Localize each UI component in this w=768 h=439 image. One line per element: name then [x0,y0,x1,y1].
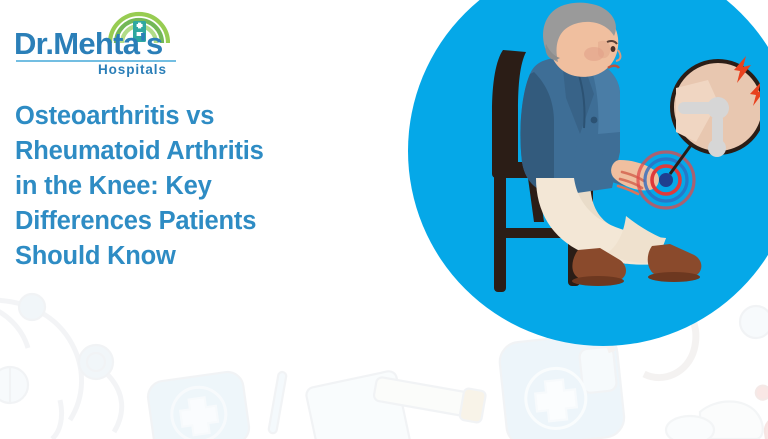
logo-wordmark-text: Dr.Mehta's [14,26,163,61]
logo-subtitle: Hospitals [98,62,167,77]
page-title-line-5: Should Know [15,239,385,274]
logo-wordmark: Dr.Mehta's [14,26,163,62]
page-title-line-1: Osteoarthritis vs [15,99,385,134]
elderly-person-with-knee-pain-illustration [470,2,760,302]
page-title: Osteoarthritis vs Rheumatoid Arthritis i… [15,99,385,274]
dr-mehtas-hospitals-logo[interactable]: Dr.Mehta's Hospitals [14,10,194,76]
article-banner: Dr.Mehta's Hospitals Osteoarthritis vs R… [0,0,768,439]
pain-rings-icon [638,152,694,208]
page-title-line-3: in the Knee: Key [15,169,385,204]
page-title-line-2: Rheumatoid Arthritis [15,134,385,169]
page-title-line-4: Differences Patients [15,204,385,239]
magnifier-knee-joint-icon [672,56,760,157]
